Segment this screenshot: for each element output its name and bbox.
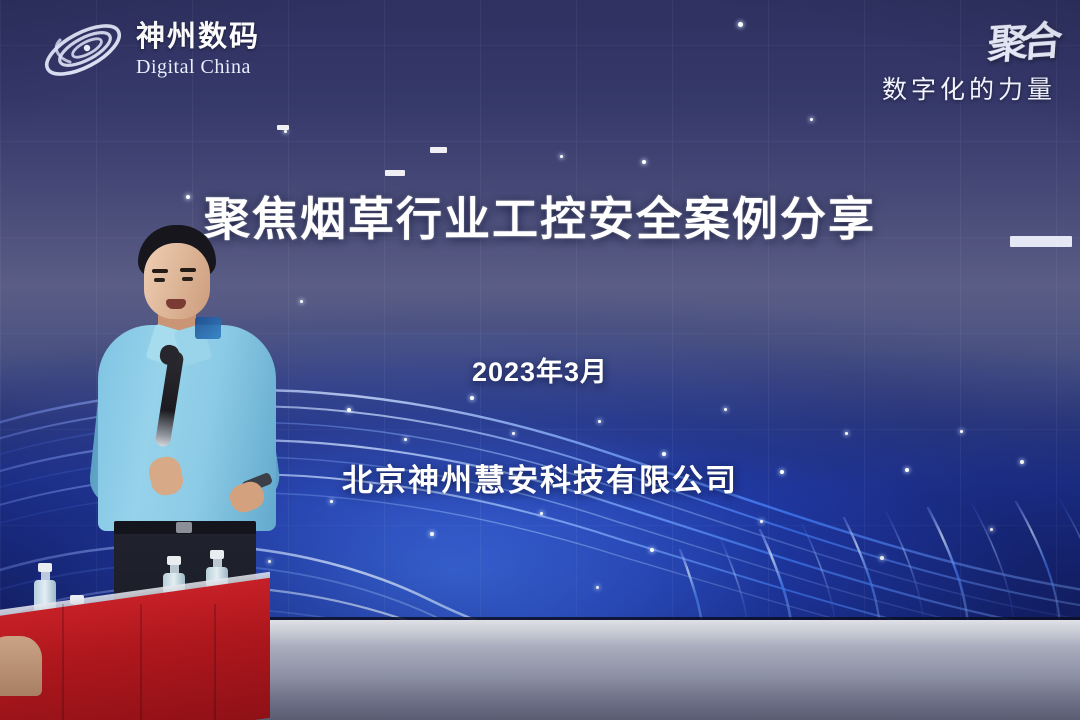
conference-photo: 神州数码 Digital China 聚合 数字化的力量 聚焦烟草行业工控安全案…	[0, 0, 1080, 720]
foreground-attendee	[0, 636, 42, 696]
cloth-fold	[140, 604, 142, 720]
digital-china-name-cn: 神州数码	[136, 23, 260, 52]
speaker-eye-left	[154, 278, 165, 282]
speaker-eye-right	[182, 277, 193, 281]
belt-buckle-icon	[176, 522, 192, 533]
swirl-galaxy-icon	[40, 18, 126, 82]
event-logo: 聚合 数字化的力量	[882, 14, 1056, 106]
speaker-mouth	[166, 299, 186, 309]
speaker-brow-left	[152, 269, 168, 273]
bottle-cap	[38, 563, 52, 572]
bottle-neck	[41, 572, 50, 580]
bottle-cap	[210, 550, 224, 559]
cloth-fold	[214, 604, 216, 720]
digital-china-logo: 神州数码 Digital China	[40, 18, 260, 82]
cloth-fold	[62, 604, 64, 720]
bottle-neck	[170, 565, 179, 573]
digital-china-name-en: Digital China	[136, 57, 260, 77]
shirt-chest-logo-icon	[195, 317, 221, 339]
speaker-brow-right	[180, 268, 196, 272]
bottle-neck	[213, 559, 222, 567]
bottle-cap	[167, 556, 181, 565]
event-calligraphy: 聚合	[879, 8, 1058, 78]
decorative-bar	[1010, 236, 1072, 247]
speaker-presenter	[92, 225, 282, 625]
